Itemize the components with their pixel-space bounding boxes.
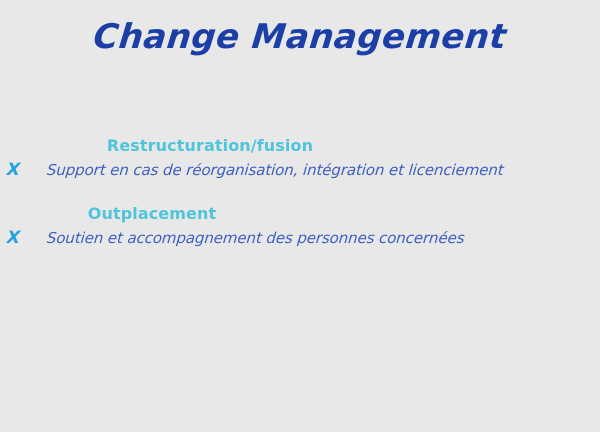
list-item: X Soutien et accompagnement des personne… [0, 227, 600, 251]
list-item: X Support en cas de réorganisation, inté… [0, 159, 600, 183]
slide-canvas: Change Management Restructuration/fusion… [0, 0, 600, 432]
list-item-label: Soutien et accompagnement des personnes … [46, 227, 465, 249]
page-title: Change Management [0, 17, 600, 57]
section-heading: Outplacement [0, 204, 600, 224]
list-item-label: Support en cas de réorganisation, intégr… [46, 159, 505, 181]
section-heading: Restructuration/fusion [0, 136, 600, 156]
bullet-x-icon: X [6, 159, 21, 181]
bullet-x-icon: X [6, 227, 21, 249]
